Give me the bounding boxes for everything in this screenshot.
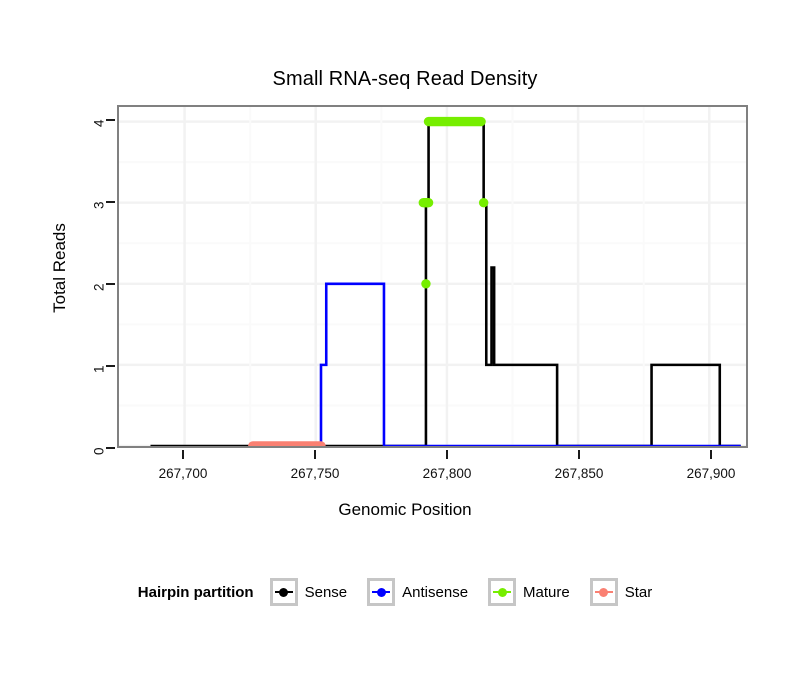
data-layer	[119, 107, 746, 446]
legend-entry-antisense[interactable]: Antisense	[367, 578, 482, 606]
legend-label: Sense	[305, 584, 348, 601]
legend-entries: SenseAntisenseMatureStar	[270, 578, 673, 606]
chart-canvas: Small RNA-seq Read Density Total Reads G…	[0, 0, 810, 690]
series-line-sense	[150, 122, 740, 446]
legend-key-dot	[498, 588, 507, 597]
legend-key-mature-icon	[488, 578, 516, 606]
legend-key-sense-icon	[270, 578, 298, 606]
legend-entry-mature[interactable]: Mature	[488, 578, 584, 606]
legend-key-dot	[279, 588, 288, 597]
y-axis-tick-mark	[106, 119, 115, 121]
legend-key-dot	[599, 588, 608, 597]
plot-panel	[117, 105, 748, 448]
x-axis-tick-label: 267,800	[402, 466, 492, 481]
y-axis-tick-label: 0	[92, 448, 107, 488]
y-axis-tick-label: 2	[92, 283, 107, 323]
x-axis-tick-mark	[710, 450, 712, 459]
legend-label: Star	[625, 584, 653, 601]
y-axis-tick-label: 1	[92, 365, 107, 405]
legend-key-dot	[377, 588, 386, 597]
y-axis-tick-mark	[106, 365, 115, 367]
x-axis-tick-label: 267,700	[138, 466, 228, 481]
legend-key-star-icon	[590, 578, 618, 606]
legend-key-antisense-icon	[367, 578, 395, 606]
x-axis-title: Genomic Position	[0, 500, 810, 520]
x-axis-tick-label: 267,900	[666, 466, 756, 481]
legend-label: Mature	[523, 584, 570, 601]
x-axis-tick-mark	[314, 450, 316, 459]
y-axis-tick-mark	[106, 283, 115, 285]
legend-entry-sense[interactable]: Sense	[270, 578, 362, 606]
y-axis-tick-mark	[106, 201, 115, 203]
y-axis-title: Total Reads	[50, 168, 70, 368]
y-axis-tick-label: 4	[92, 119, 107, 159]
x-axis-tick-label: 267,850	[534, 466, 624, 481]
x-axis-tick-mark	[446, 450, 448, 459]
legend-label: Antisense	[402, 584, 468, 601]
x-axis-tick-mark	[182, 450, 184, 459]
legend-title: Hairpin partition	[138, 584, 254, 601]
x-axis-tick-label: 267,750	[270, 466, 360, 481]
x-axis-tick-mark	[578, 450, 580, 459]
y-axis-tick-label: 3	[92, 201, 107, 241]
y-axis-tick-mark	[106, 447, 115, 449]
legend-entry-star[interactable]: Star	[590, 578, 667, 606]
legend: Hairpin partition SenseAntisenseMatureSt…	[0, 578, 810, 606]
chart-title: Small RNA-seq Read Density	[0, 68, 810, 91]
